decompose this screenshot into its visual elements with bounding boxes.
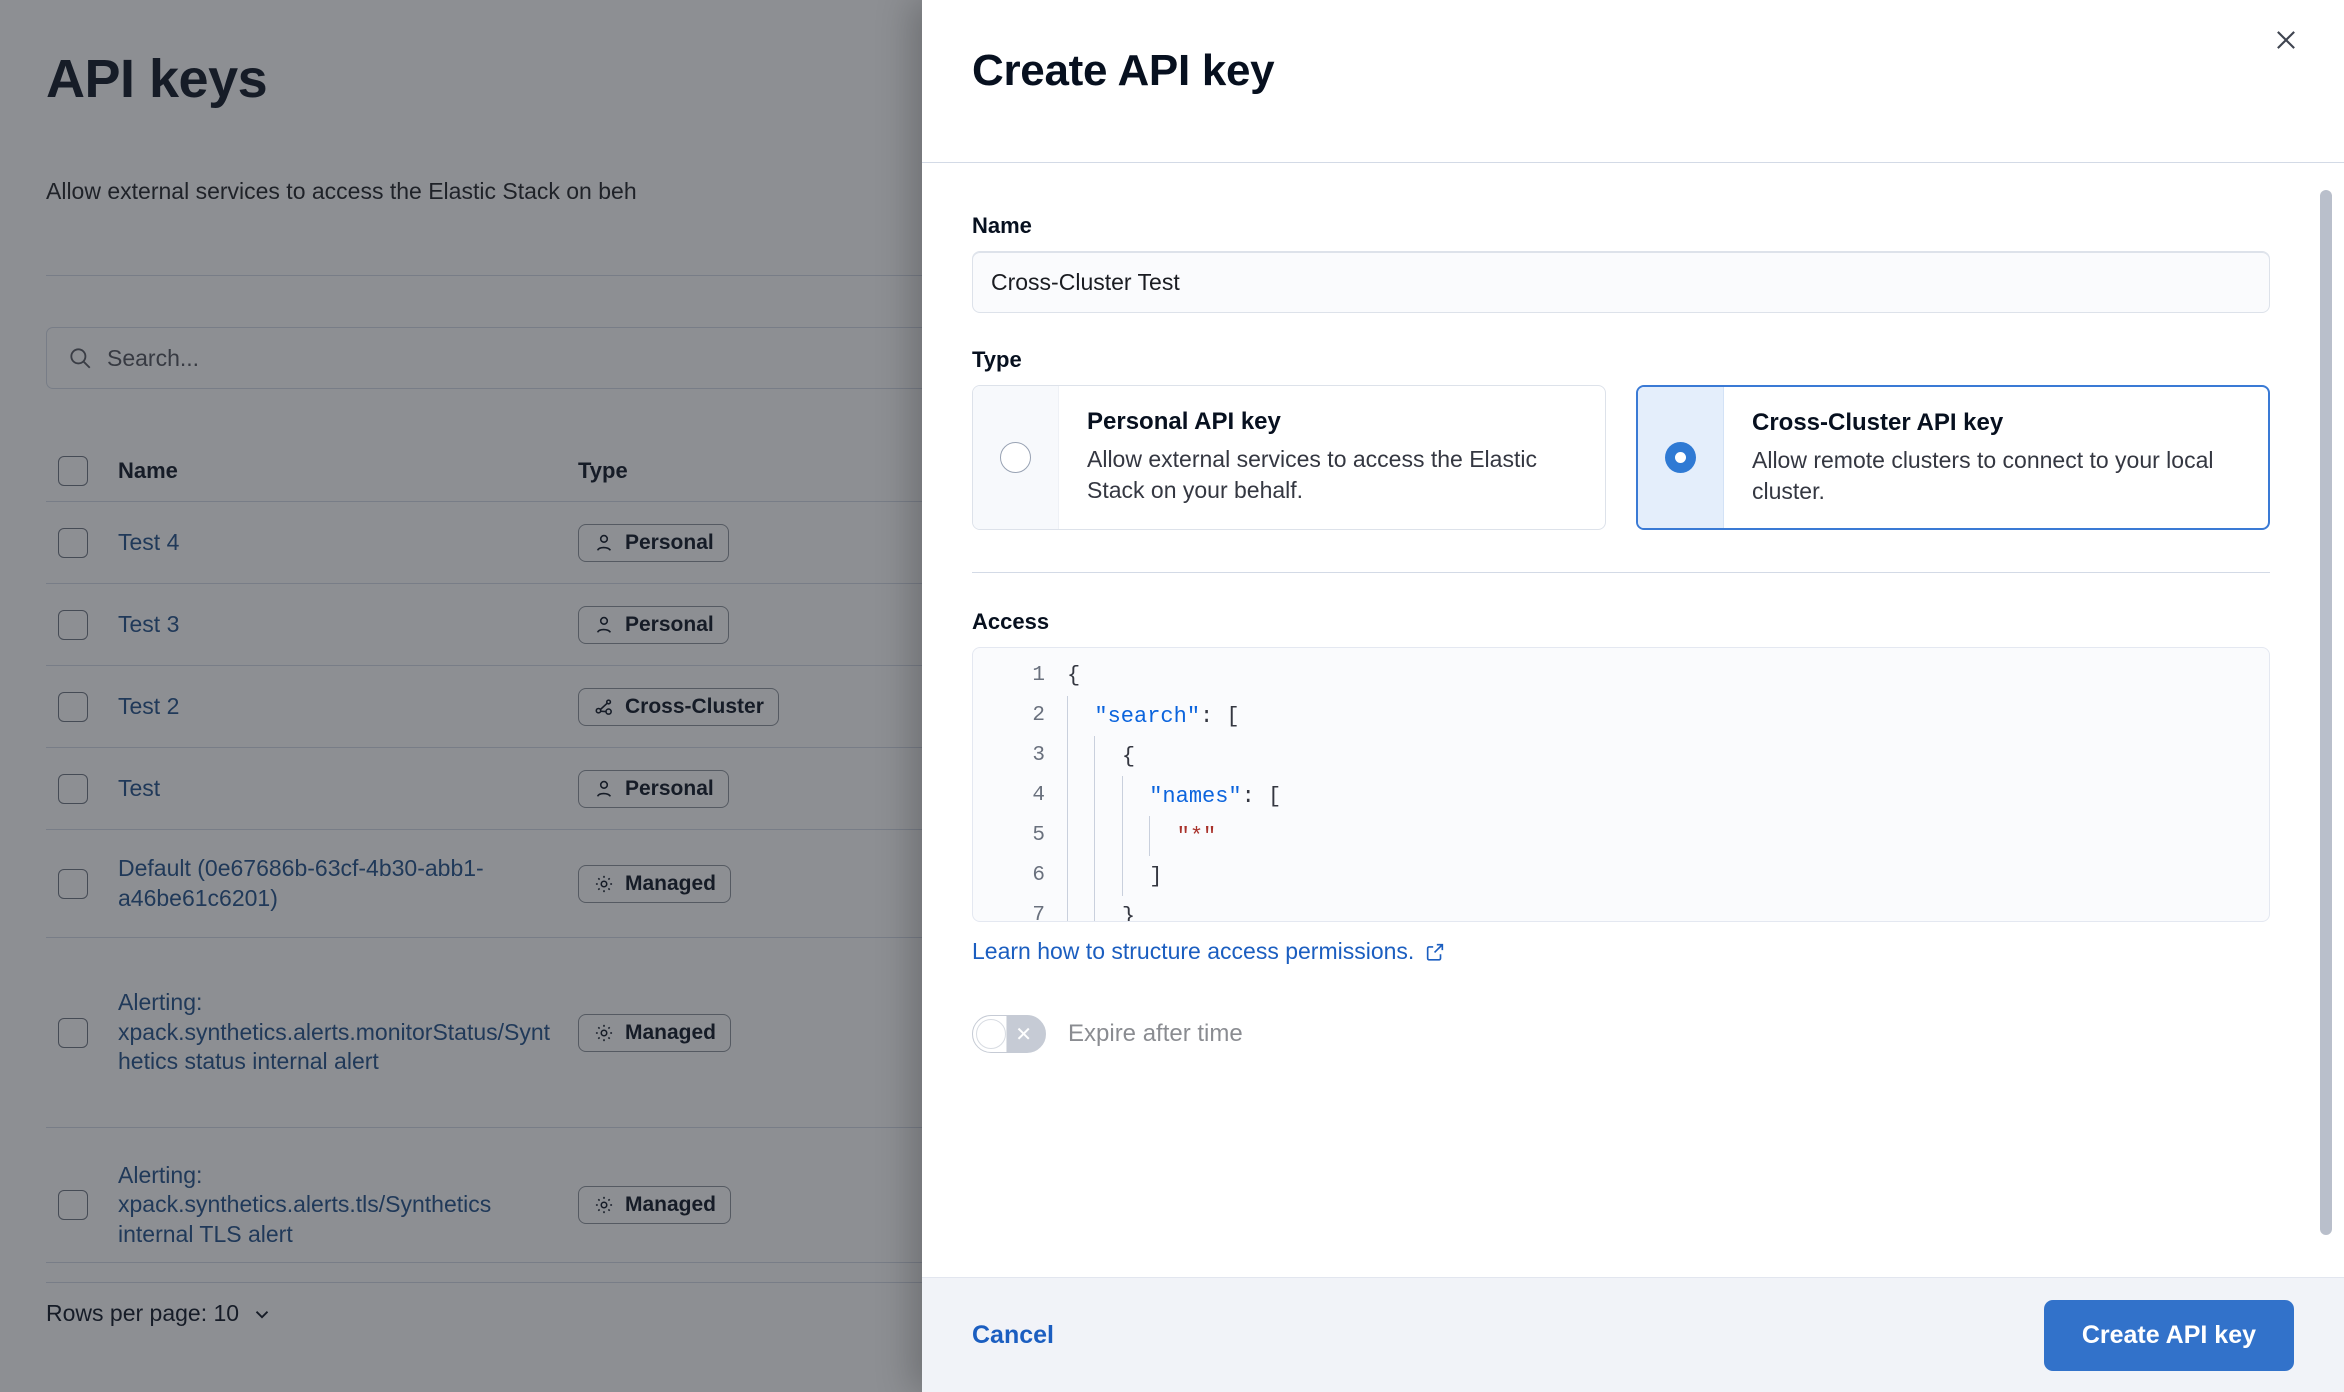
- code-text: "search": [: [1067, 696, 1240, 737]
- code-text: "names": [: [1067, 776, 1281, 817]
- name-field-group: Name: [972, 213, 2294, 313]
- create-api-key-flyout: Create API key Name Type Personal API ke…: [922, 0, 2344, 1392]
- line-number: 6: [973, 856, 1067, 896]
- type-field-group: Type Personal API key Allow external ser…: [972, 347, 2294, 530]
- flyout-body: Name Type Personal API key Allow externa…: [922, 163, 2344, 1277]
- line-number: 5: [973, 816, 1067, 856]
- expire-label: Expire after time: [1068, 1020, 1243, 1048]
- radio-button-personal[interactable]: [1000, 442, 1031, 473]
- line-number: 2: [973, 696, 1067, 736]
- access-code-editor[interactable]: 1{ 2 "search": [ 3 { 4 "names": [ 5 "*" …: [972, 647, 2270, 922]
- type-option-title: Personal API key: [1087, 408, 1581, 436]
- learn-permissions-link[interactable]: Learn how to structure access permission…: [972, 938, 1446, 965]
- name-label: Name: [972, 213, 2294, 239]
- radio-gutter: [1638, 387, 1724, 528]
- create-api-key-button[interactable]: Create API key: [2044, 1300, 2294, 1371]
- code-text: }: [1067, 896, 1135, 922]
- line-number: 3: [973, 736, 1067, 776]
- expire-toggle[interactable]: ✕: [972, 1015, 1046, 1053]
- type-option-description: Allow external services to access the El…: [1087, 444, 1581, 505]
- type-label: Type: [972, 347, 2294, 373]
- code-line: 6 ]: [973, 856, 2269, 896]
- close-icon[interactable]: [2260, 14, 2312, 66]
- external-link-icon: [1424, 941, 1446, 963]
- radio-gutter: [973, 386, 1059, 529]
- flyout-scrollbar[interactable]: [2320, 163, 2336, 1277]
- code-line: 4 "names": [: [973, 776, 2269, 816]
- access-label: Access: [972, 609, 2294, 635]
- toggle-knob: [976, 1019, 1006, 1049]
- access-field-group: Access 1{ 2 "search": [ 3 { 4 "names": […: [972, 609, 2294, 965]
- line-number: 1: [973, 656, 1067, 696]
- scrollbar-thumb[interactable]: [2320, 190, 2332, 1235]
- code-line: 7 }: [973, 896, 2269, 922]
- cancel-button[interactable]: Cancel: [972, 1321, 1054, 1350]
- code-text: ]: [1067, 856, 1162, 897]
- toggle-off-icon: ✕: [1015, 1022, 1032, 1047]
- code-line: 3 {: [973, 736, 2269, 776]
- code-line: 1{: [973, 656, 2269, 696]
- code-text: "*": [1067, 816, 1216, 857]
- code-line: 5 "*": [973, 816, 2269, 856]
- type-option-description: Allow remote clusters to connect to your…: [1752, 445, 2244, 506]
- type-option-title: Cross-Cluster API key: [1752, 409, 2244, 437]
- radio-button-cross-cluster[interactable]: [1665, 442, 1696, 473]
- expire-after-time-field[interactable]: ✕ Expire after time: [972, 1015, 2294, 1053]
- code-text: {: [1067, 736, 1135, 777]
- code-text: {: [1067, 656, 1080, 696]
- line-number: 7: [973, 896, 1067, 922]
- scroll-fade: [922, 1215, 2344, 1277]
- line-number: 4: [973, 776, 1067, 816]
- name-input[interactable]: [972, 251, 2270, 313]
- flyout-header: Create API key: [922, 0, 2344, 163]
- flyout-title: Create API key: [972, 46, 1274, 96]
- code-line: 2 "search": [: [973, 696, 2269, 736]
- type-option-cross-cluster[interactable]: Cross-Cluster API key Allow remote clust…: [1636, 385, 2270, 530]
- section-divider: [972, 572, 2270, 573]
- flyout-footer: Cancel Create API key: [922, 1277, 2344, 1392]
- type-option-personal[interactable]: Personal API key Allow external services…: [972, 385, 1606, 530]
- learn-link-label: Learn how to structure access permission…: [972, 938, 1414, 965]
